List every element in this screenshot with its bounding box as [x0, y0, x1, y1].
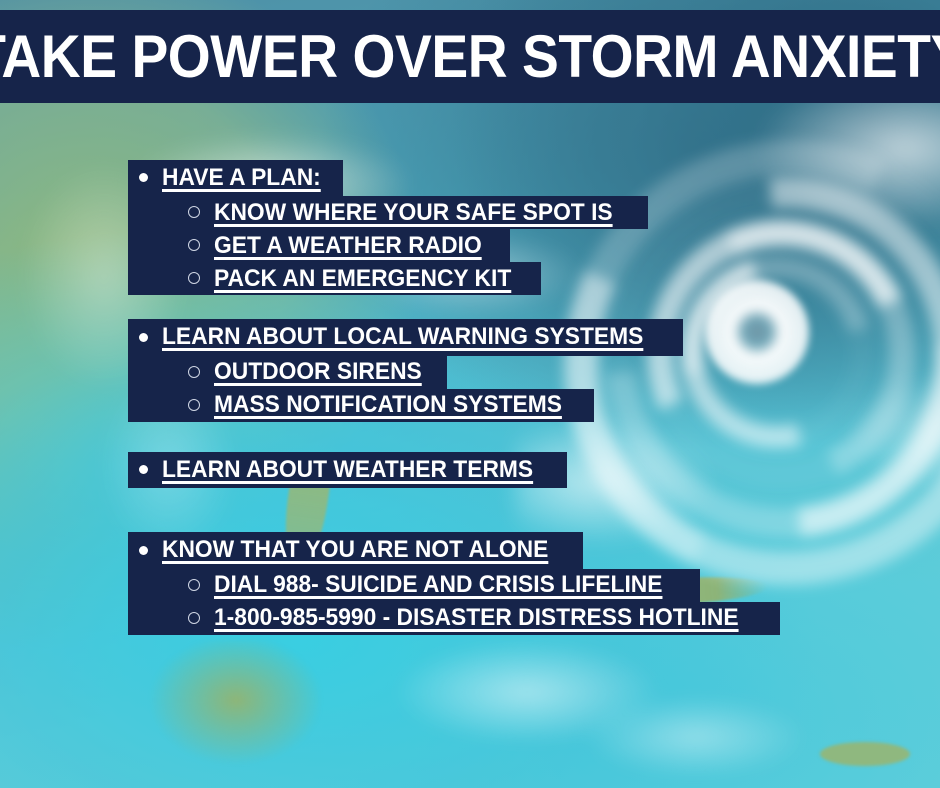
- spacer: [128, 488, 828, 532]
- list-item-label: GET A WEATHER RADIO: [214, 233, 482, 258]
- list-item-distress-hotline[interactable]: 1-800-985-5990 - DISASTER DISTRESS HOTLI…: [128, 602, 780, 635]
- list-item[interactable]: LEARN ABOUT LOCAL WARNING SYSTEMS: [128, 319, 683, 355]
- list-item[interactable]: KNOW WHERE YOUR SAFE SPOT IS: [128, 196, 648, 229]
- list-group-weather-terms: LEARN ABOUT WEATHER TERMS: [128, 452, 828, 488]
- bullet-dot-icon: [139, 333, 148, 342]
- bullet-dot-icon: [139, 173, 148, 182]
- list-item-label: LEARN ABOUT WEATHER TERMS: [162, 457, 533, 482]
- list-item-label: KNOW THAT YOU ARE NOT ALONE: [162, 537, 548, 562]
- landmass-central-america: [110, 640, 320, 788]
- title-banner: TAKE POWER OVER STORM ANXIETY: [0, 10, 940, 103]
- bullet-circle-icon: [188, 399, 200, 411]
- advice-list: HAVE A PLAN: KNOW WHERE YOUR SAFE SPOT I…: [128, 160, 828, 635]
- list-item[interactable]: OUTDOOR SIRENS: [128, 356, 447, 389]
- bullet-circle-icon: [188, 579, 200, 591]
- page-title: TAKE POWER OVER STORM ANXIETY: [0, 27, 940, 87]
- list-item-label: DIAL 988- SUICIDE AND CRISIS LIFELINE: [214, 572, 662, 597]
- list-item[interactable]: HAVE A PLAN:: [128, 160, 343, 196]
- list-item[interactable]: LEARN ABOUT WEATHER TERMS: [128, 452, 567, 488]
- list-item[interactable]: MASS NOTIFICATION SYSTEMS: [128, 389, 594, 422]
- list-item-label: LEARN ABOUT LOCAL WARNING SYSTEMS: [162, 324, 643, 349]
- list-item[interactable]: KNOW THAT YOU ARE NOT ALONE: [128, 532, 583, 568]
- bullet-circle-icon: [188, 366, 200, 378]
- list-group-not-alone: KNOW THAT YOU ARE NOT ALONE DIAL 988- SU…: [128, 532, 828, 634]
- list-item[interactable]: GET A WEATHER RADIO: [128, 229, 510, 262]
- list-item-label: 1-800-985-5990 - DISASTER DISTRESS HOTLI…: [214, 605, 739, 630]
- list-item-label: OUTDOOR SIRENS: [214, 359, 422, 384]
- list-item-label: MASS NOTIFICATION SYSTEMS: [214, 392, 562, 417]
- cloud-field-south: [380, 620, 800, 788]
- bullet-dot-icon: [139, 546, 148, 555]
- bullet-circle-icon: [188, 612, 200, 624]
- landmass-puerto-rico: [820, 742, 910, 766]
- list-item-label: PACK AN EMERGENCY KIT: [214, 266, 511, 291]
- list-item-label: KNOW WHERE YOUR SAFE SPOT IS: [214, 200, 613, 225]
- bullet-circle-icon: [188, 239, 200, 251]
- list-item-label: HAVE A PLAN:: [162, 165, 321, 190]
- list-group-warning-systems: LEARN ABOUT LOCAL WARNING SYSTEMS OUTDOO…: [128, 319, 828, 421]
- bullet-dot-icon: [139, 465, 148, 474]
- list-item[interactable]: PACK AN EMERGENCY KIT: [128, 262, 541, 295]
- bullet-circle-icon: [188, 272, 200, 284]
- bullet-circle-icon: [188, 206, 200, 218]
- spacer: [128, 295, 828, 319]
- list-group-have-a-plan: HAVE A PLAN: KNOW WHERE YOUR SAFE SPOT I…: [128, 160, 828, 295]
- spacer: [128, 422, 828, 452]
- list-item-crisis-lifeline[interactable]: DIAL 988- SUICIDE AND CRISIS LIFELINE: [128, 569, 700, 602]
- storm-anxiety-poster: TAKE POWER OVER STORM ANXIETY HAVE A PLA…: [0, 0, 940, 788]
